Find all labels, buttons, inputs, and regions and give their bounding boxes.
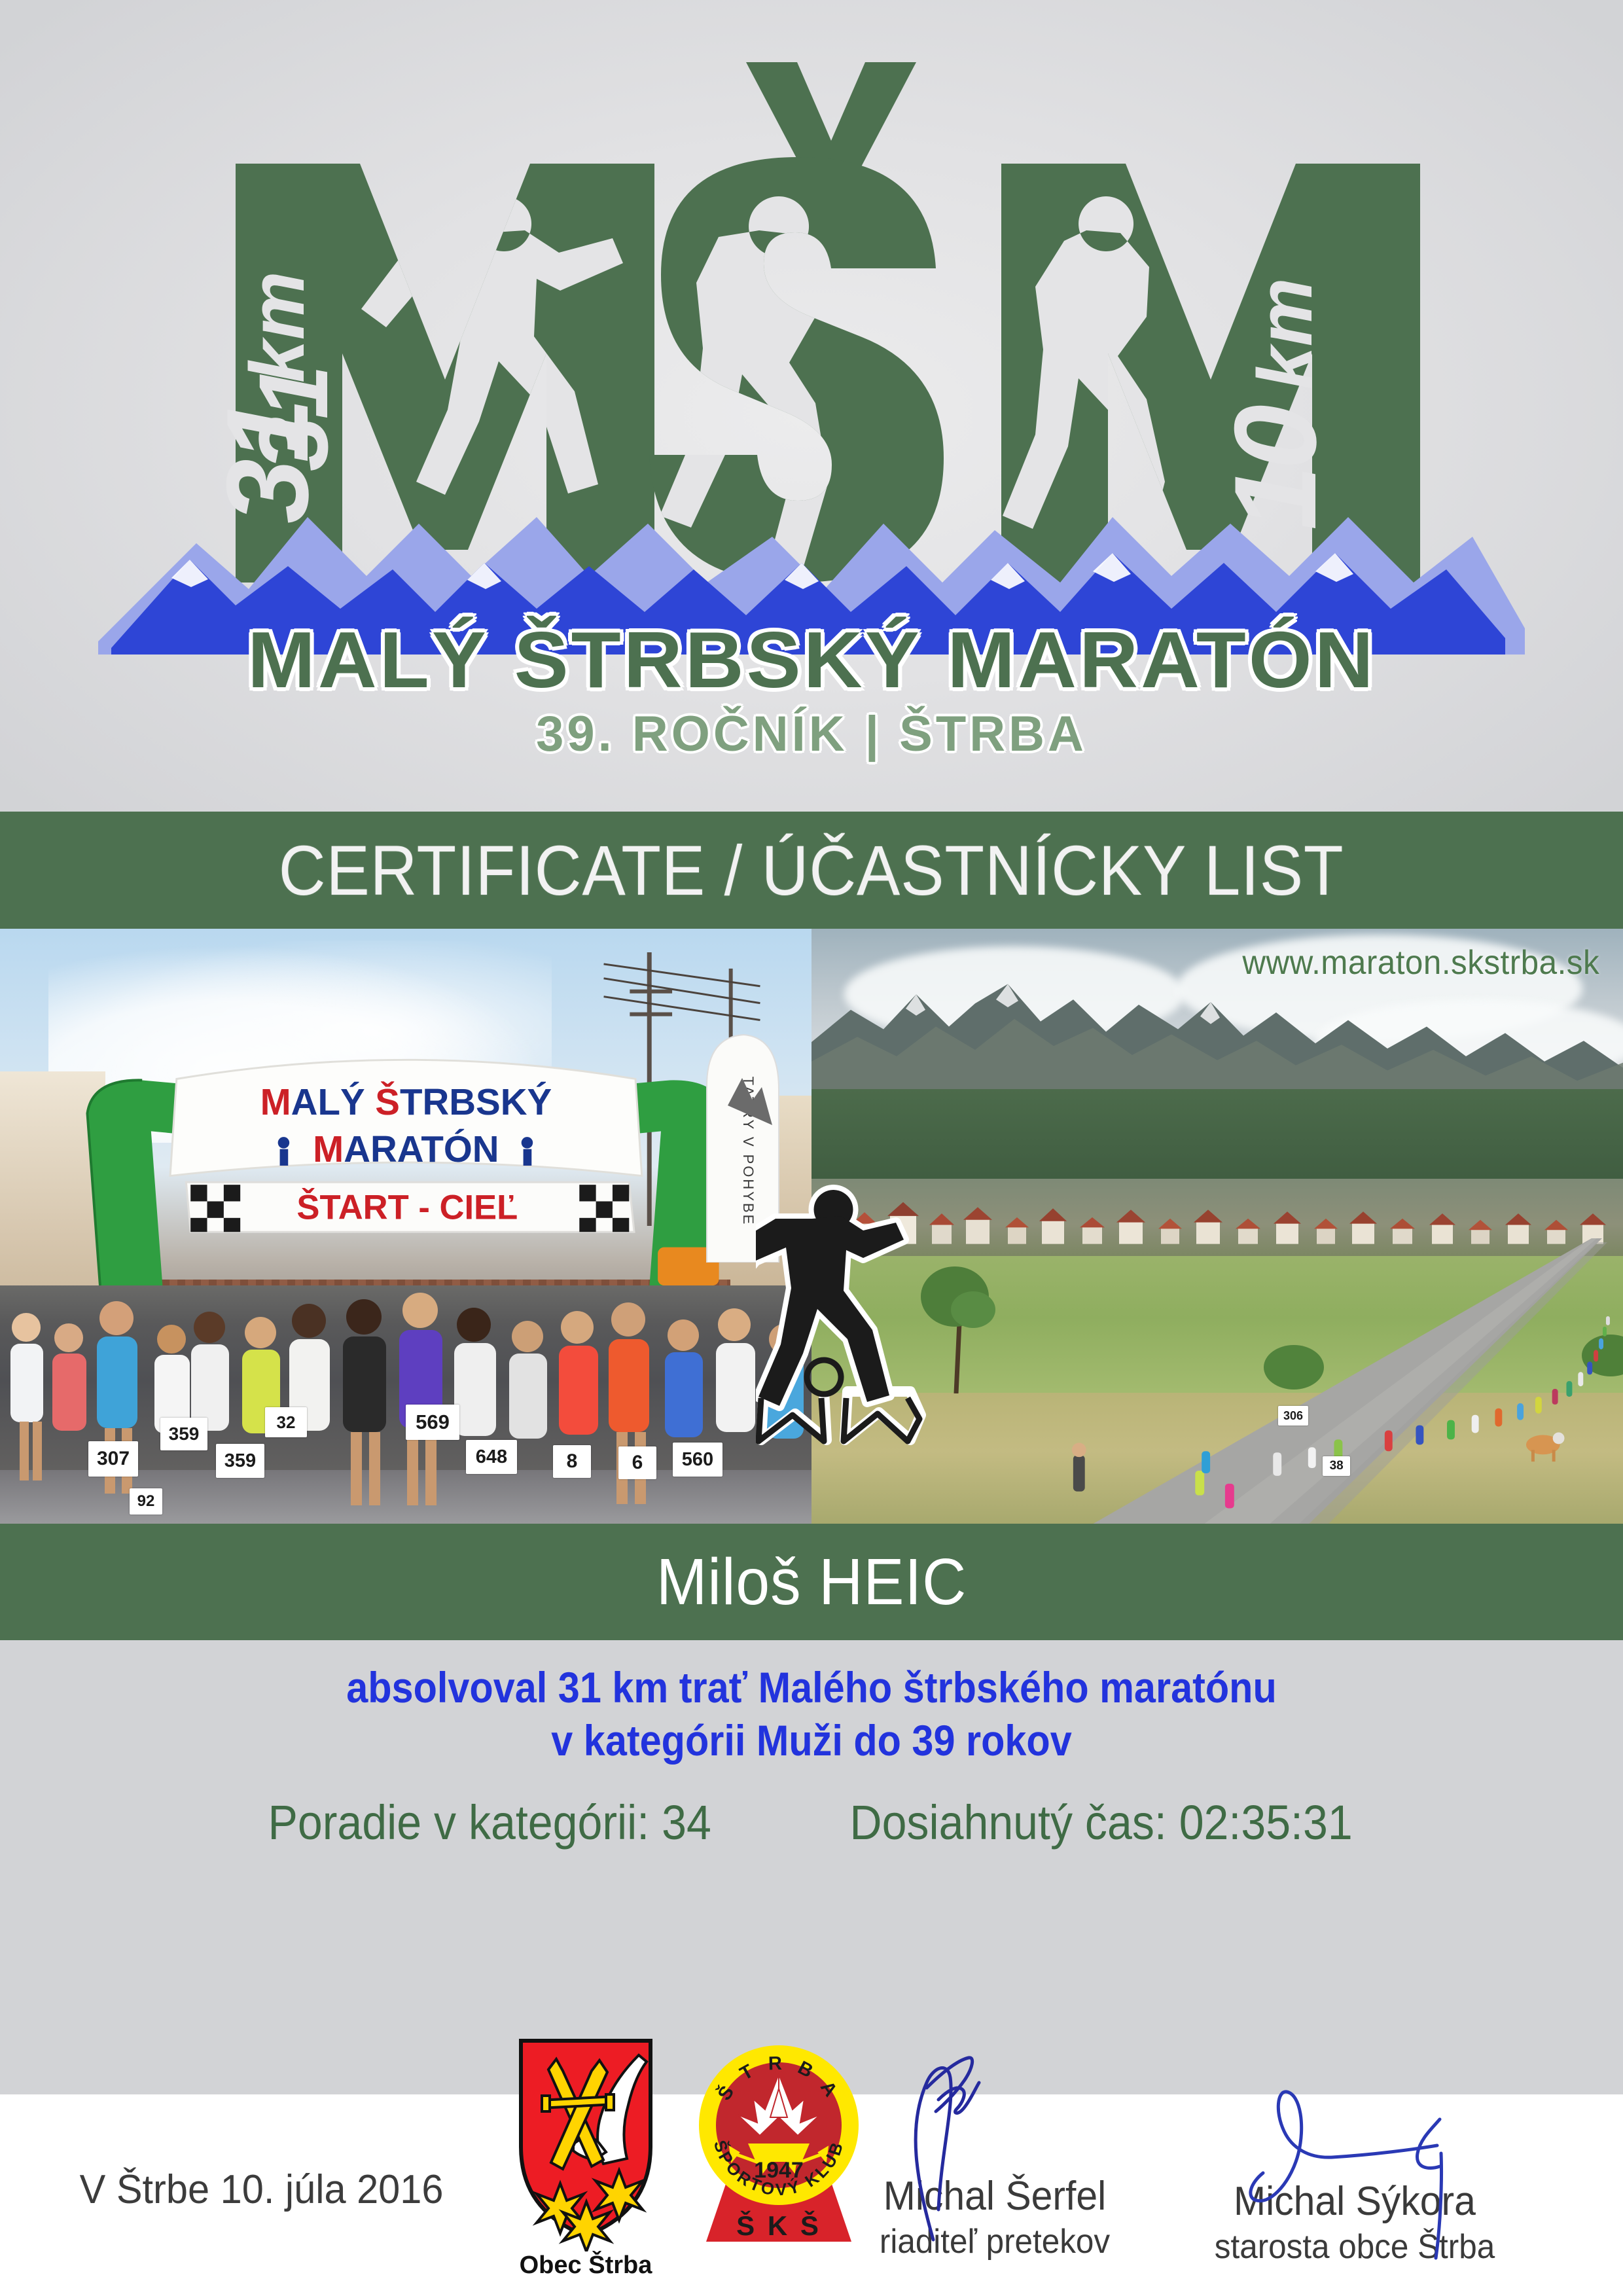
handwritten-signature-director (870, 2049, 1080, 2245)
category-rank: Poradie v kategórii: 34 (268, 1795, 711, 1850)
event-title-text: MALÝ ŠTRBSKÝ MARATÓN (247, 614, 1376, 706)
certificate-title: CERTIFICATE / ÚČASTNÍCKY LIST (279, 829, 1344, 911)
svg-text:31: 31 (202, 402, 332, 524)
result-info: absolvoval 31 km trať Malého štrbského m… (0, 1640, 1623, 2007)
description-line-1: absolvoval 31 km trať Malého štrbského m… (81, 1661, 1542, 1714)
event-subtitle: 39. ROČNÍK | ŠTRBA (0, 706, 1623, 762)
event-title: MALÝ ŠTRBSKÝ MARATÓN (0, 614, 1623, 706)
runners-group (0, 1282, 811, 1524)
bib-number: 8 (553, 1445, 591, 1478)
bib-number: 560 (673, 1443, 722, 1477)
description-line-2: v kategórii Muži do 39 rokov (81, 1714, 1542, 1767)
bib-number: 6 (618, 1446, 656, 1479)
bib-number: 307 (88, 1441, 138, 1477)
bib-number: 306 (1278, 1406, 1308, 1426)
issue-date: V Štrbe 10. júla 2016 (80, 2166, 444, 2213)
svg-text:km: km (234, 271, 321, 383)
msm-runner-emblem: MŠM (756, 1178, 926, 1466)
coat-of-arms-caption: Obec Štrba (510, 2251, 661, 2280)
website-url[interactable]: www.maraton.skstrba.sk (1242, 943, 1599, 982)
svg-text:MARATÓN: MARATÓN (313, 1128, 499, 1170)
club-bottom-text: Š K Š (736, 2210, 821, 2241)
bib-number: 648 (466, 1440, 517, 1474)
svg-text:ŠTART - CIEĽ: ŠTART - CIEĽ (296, 1189, 518, 1227)
bib-number: 92 (130, 1488, 162, 1515)
event-subtitle-text: 39. ROČNÍK | ŠTRBA (536, 706, 1087, 762)
participant-name: Miloš HEIC (656, 1545, 967, 1620)
inflatable-start-arch: MALÝ ŠTRBSKÝ MARATÓN Š (73, 1018, 739, 1285)
result-figures: Poradie v kategórii: 34 Dosiahnutý čas: … (0, 1795, 1623, 1850)
finish-time: Dosiahnutý čas: 02:35:31 (849, 1795, 1352, 1850)
bib-number: 359 (216, 1444, 264, 1478)
municipality-coat-of-arms: . (510, 2036, 661, 2251)
photo-course-landscape: 38 306 www.maraton.skstrba.sk (811, 929, 1623, 1524)
photo-start-finish: MALÝ ŠTRBSKÝ MARATÓN Š (0, 929, 811, 1524)
bib-number: 569 (406, 1405, 459, 1440)
bib-number: 359 (160, 1418, 207, 1450)
runner-stream (811, 1238, 1623, 1524)
certificate-page: 31 31 km 10 km (0, 0, 1623, 2296)
svg-text:10: 10 (1210, 405, 1340, 530)
svg-text:km: km (1242, 278, 1329, 389)
certificate-title-band: CERTIFICATE / ÚČASTNÍCKY LIST (0, 812, 1623, 929)
bib-number: 38 (1323, 1456, 1350, 1476)
svg-text:MALÝ ŠTRBSKÝ: MALÝ ŠTRBSKÝ (260, 1081, 552, 1122)
handwritten-signature-mayor (1224, 2055, 1512, 2265)
event-logo: 31 31 km 10 km (0, 0, 1623, 812)
bib-number: 32 (265, 1407, 307, 1437)
participant-name-band: Miloš HEIC (0, 1524, 1623, 1640)
club-emblem-sks: 1947 Š T R B A ŠPORTOVÝ KLUB Š K Š (697, 2026, 861, 2255)
result-description: absolvoval 31 km trať Malého štrbského m… (81, 1661, 1542, 1767)
